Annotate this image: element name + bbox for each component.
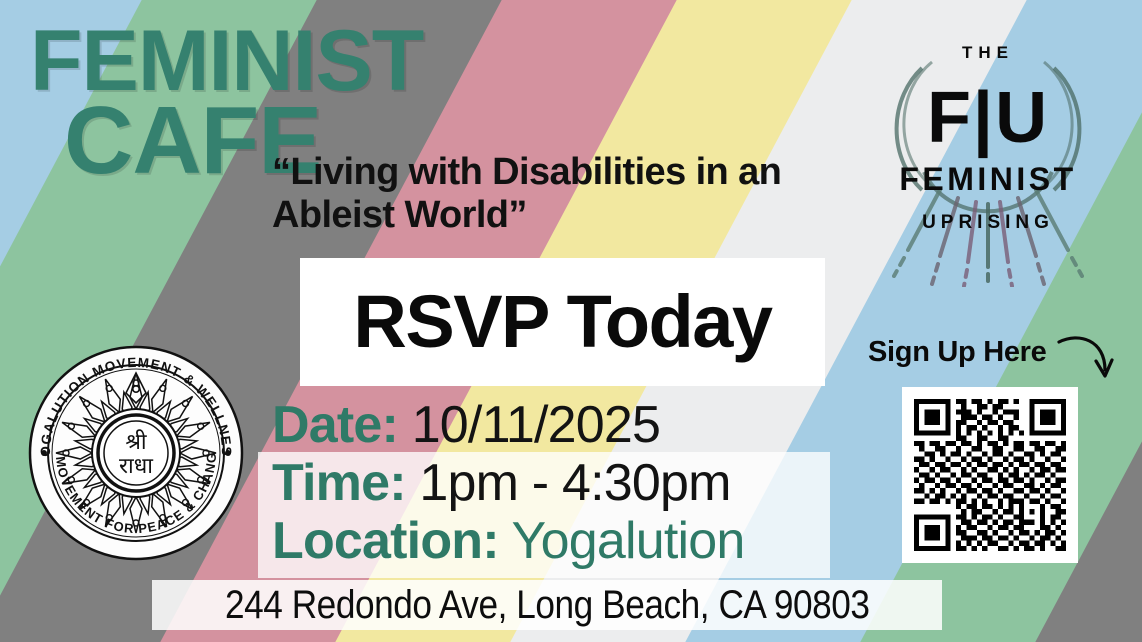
fu-feminist-text: FEMINIST — [899, 161, 1076, 197]
sign-up-here-label: Sign Up Here — [868, 336, 1047, 369]
yogalution-logo: YOGALUTION MOVEMENT & WELLNESS A MOVEMEN… — [28, 345, 244, 561]
yoga-sanskrit-radha: राधा — [119, 454, 153, 479]
date-label: Date: — [272, 396, 398, 454]
event-flyer: FEMINIST CAFE “Living with Disabilities … — [0, 0, 1142, 642]
rsvp-label: RSVP Today — [353, 285, 771, 359]
fu-logo-graphic: THE F|U FEMINIST UPRISING — [880, 22, 1096, 287]
fu-uprising-text: UPRISING — [922, 212, 1054, 233]
location-label: Location: — [272, 512, 499, 570]
qr-code-image[interactable] — [914, 399, 1066, 551]
detail-row-date: Date: 10/11/2025 — [272, 396, 832, 454]
location-value: Yogalution — [512, 512, 745, 570]
detail-row-time: Time: 1pm - 4:30pm — [272, 454, 832, 512]
flyer-subtitle: “Living with Disabilities in an Ableist … — [272, 151, 862, 236]
yogalution-logo-graphic: YOGALUTION MOVEMENT & WELLNESS A MOVEMEN… — [28, 345, 244, 561]
yoga-sanskrit-shri: श्री — [125, 429, 147, 455]
rsvp-banner: RSVP Today — [300, 258, 825, 386]
detail-row-location: Location: Yogalution — [272, 512, 832, 570]
time-value: 1pm - 4:30pm — [419, 454, 730, 512]
time-label: Time: — [272, 454, 406, 512]
address-text: 244 Redondo Ave, Long Beach, CA 90803 — [225, 583, 870, 628]
address-banner: 244 Redondo Ave, Long Beach, CA 90803 — [152, 580, 942, 630]
date-value: 10/11/2025 — [412, 396, 660, 454]
qr-code-container[interactable] — [902, 387, 1078, 563]
feminist-uprising-logo: THE F|U FEMINIST UPRISING — [880, 22, 1096, 287]
fu-the-text: THE — [962, 43, 1014, 62]
curved-arrow-icon — [1055, 330, 1117, 392]
fu-mark-text: F|U — [927, 78, 1049, 158]
event-details: Date: 10/11/2025 Time: 1pm - 4:30pm Loca… — [272, 396, 832, 571]
